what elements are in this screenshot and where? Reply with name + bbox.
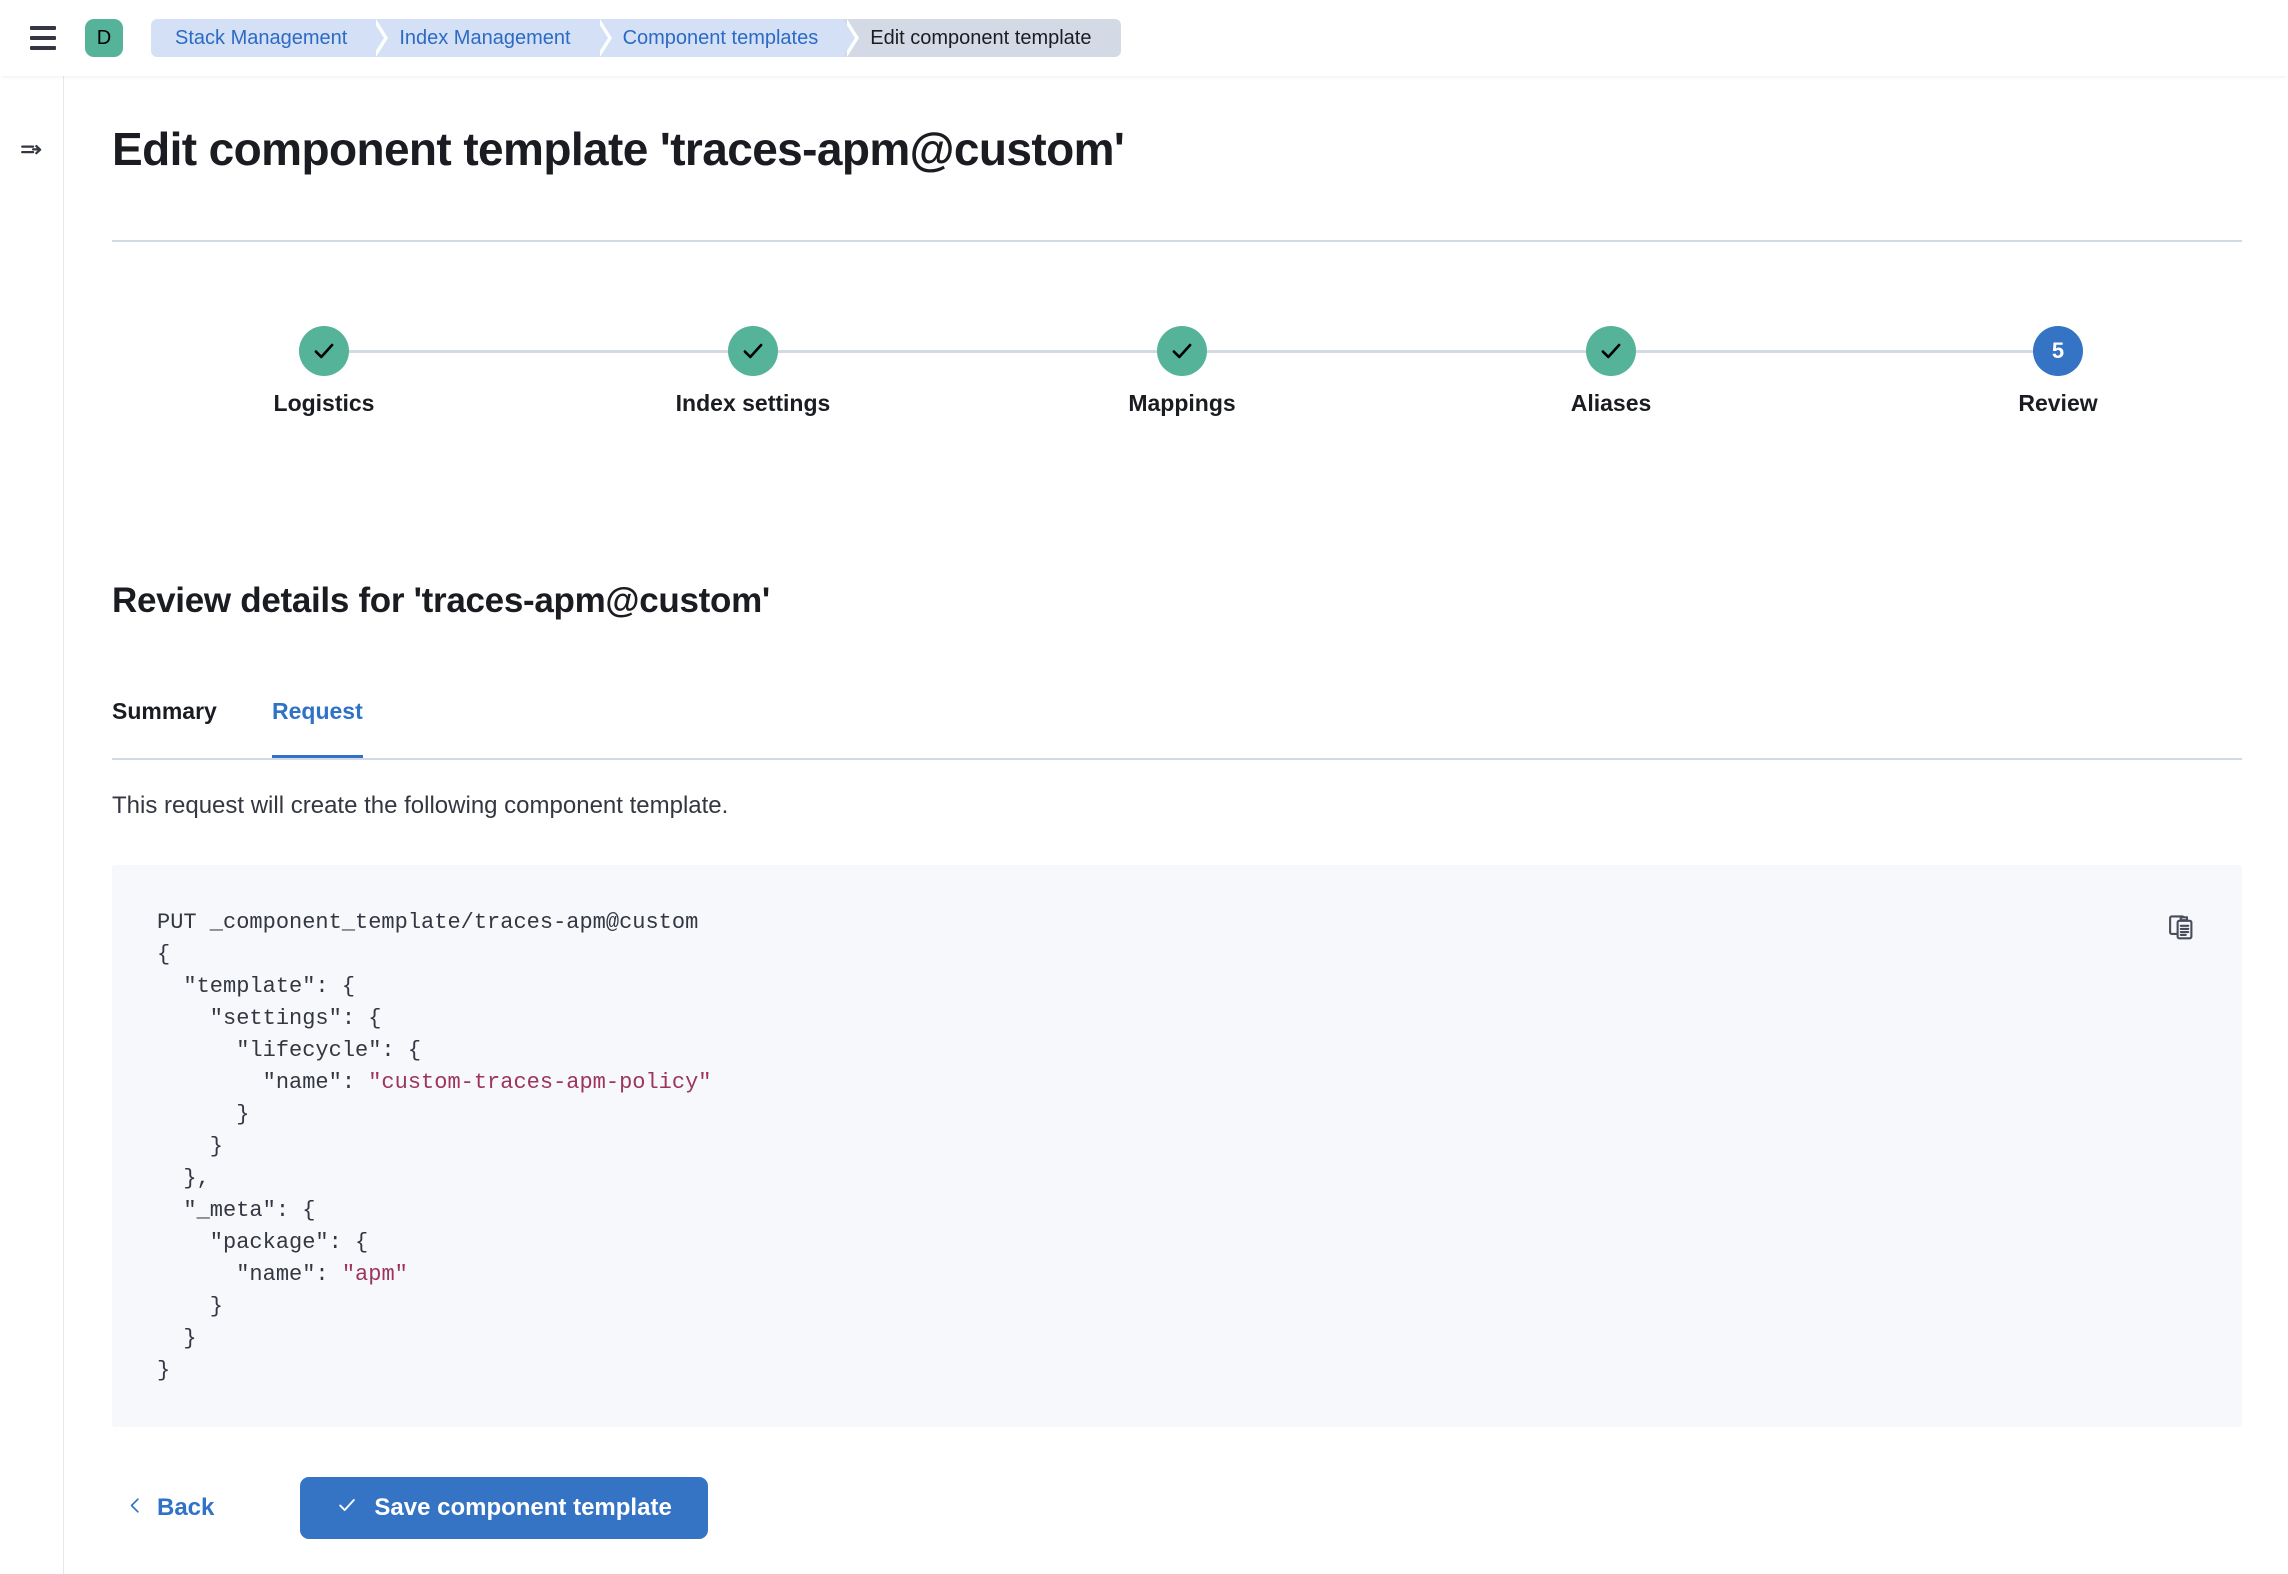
- main-content: Edit component template 'traces-apm@cust…: [65, 76, 2288, 1574]
- wizard-stepper: Logistics Index settings Mappings Aliase…: [112, 318, 2242, 438]
- step-marker-check-icon[interactable]: [299, 326, 349, 376]
- breadcrumb-item-index-management[interactable]: Index Management: [373, 19, 596, 57]
- request-code-text: PUT _component_template/traces-apm@custo…: [157, 907, 712, 1387]
- page-title: Edit component template 'traces-apm@cust…: [112, 122, 1124, 176]
- top-header: D Stack Management Index Management Comp…: [0, 0, 2288, 76]
- step-logistics[interactable]: Logistics: [224, 318, 424, 417]
- step-index-settings[interactable]: Index settings: [653, 318, 853, 417]
- save-component-template-button[interactable]: Save component template: [300, 1477, 707, 1539]
- step-label: Mappings: [1082, 390, 1282, 417]
- step-aliases[interactable]: Aliases: [1511, 318, 1711, 417]
- copy-clipboard-icon[interactable]: [2160, 905, 2204, 949]
- step-label: Index settings: [653, 390, 853, 417]
- check-icon: [336, 1494, 358, 1523]
- breadcrumb: Stack Management Index Management Compon…: [151, 19, 1121, 57]
- hamburger-bar: [30, 26, 56, 30]
- step-review[interactable]: 5 Review: [1958, 318, 2158, 417]
- avatar[interactable]: D: [85, 19, 123, 57]
- step-marker-check-icon[interactable]: [1157, 326, 1207, 376]
- wizard-footer: Back Save component template: [112, 1468, 2242, 1548]
- tab-request[interactable]: Request: [272, 688, 363, 760]
- left-sidebar-rail: [0, 76, 64, 1574]
- tabs-divider: [112, 758, 2242, 760]
- title-divider: [112, 240, 2242, 242]
- back-button[interactable]: Back: [112, 1484, 228, 1532]
- request-code-block: PUT _component_template/traces-apm@custo…: [112, 865, 2242, 1427]
- breadcrumb-item-stack-management[interactable]: Stack Management: [151, 19, 373, 57]
- hamburger-bar: [30, 36, 56, 40]
- section-title: Review details for 'traces-apm@custom': [112, 581, 770, 621]
- chevron-left-icon: [126, 1494, 145, 1522]
- step-marker-check-icon[interactable]: [1586, 326, 1636, 376]
- step-label: Aliases: [1511, 390, 1711, 417]
- back-button-label: Back: [157, 1494, 214, 1522]
- expand-sidebar-arrow-icon[interactable]: [13, 132, 51, 170]
- hamburger-menu-icon[interactable]: [22, 17, 64, 59]
- tab-summary[interactable]: Summary: [112, 688, 217, 760]
- hamburger-bar: [30, 46, 56, 50]
- tab-list: Summary Request: [112, 688, 2242, 760]
- step-label: Logistics: [224, 390, 424, 417]
- breadcrumb-item-component-templates[interactable]: Component templates: [597, 19, 845, 57]
- request-description: This request will create the following c…: [112, 792, 728, 820]
- step-marker-check-icon[interactable]: [728, 326, 778, 376]
- step-mappings[interactable]: Mappings: [1082, 318, 1282, 417]
- step-number: 5: [2052, 338, 2064, 364]
- step-marker-number[interactable]: 5: [2033, 326, 2083, 376]
- save-button-label: Save component template: [374, 1494, 671, 1522]
- step-label: Review: [1958, 390, 2158, 417]
- breadcrumb-item-edit-component-template: Edit component template: [844, 19, 1121, 57]
